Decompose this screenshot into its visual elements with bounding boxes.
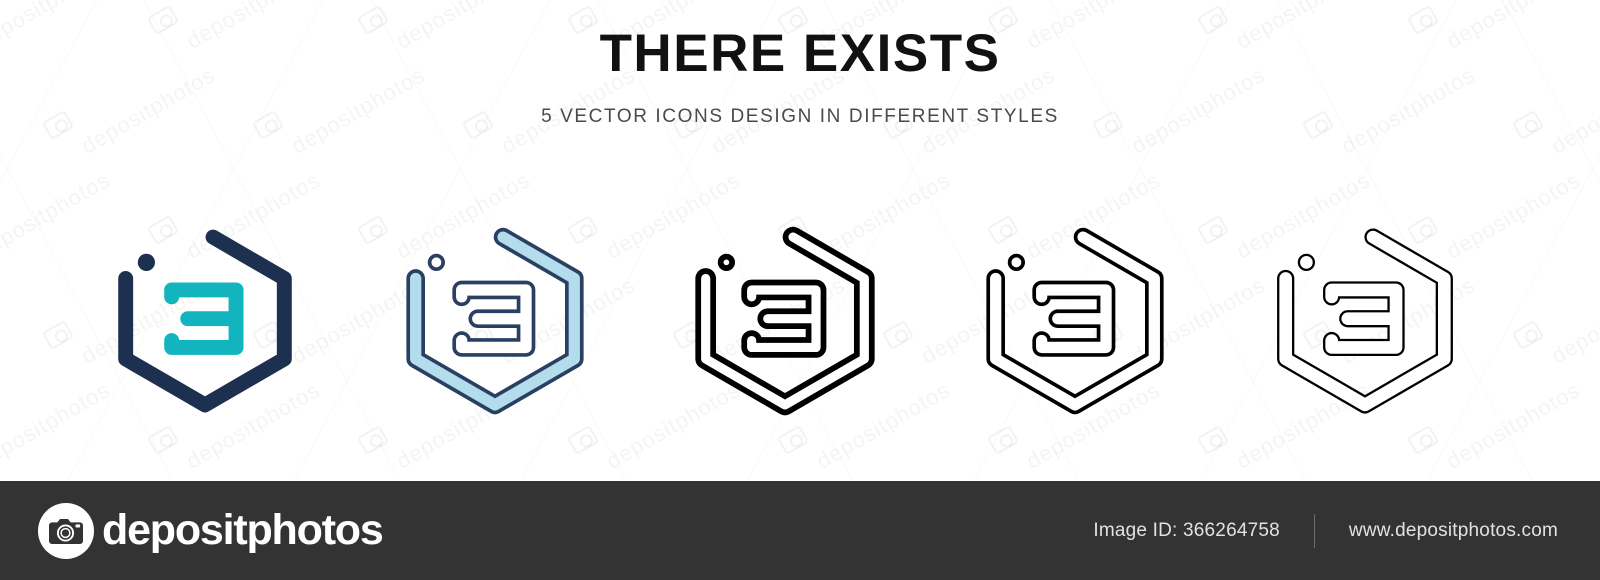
icon-cell-2[interactable] [350,186,640,456]
corner-dot [138,254,155,271]
page-subtitle: 5 VECTOR ICONS DESIGN IN DIFFERENT STYLE… [0,106,1600,128]
corner-dot-outline [721,257,732,268]
icon-cell-1[interactable] [60,186,350,456]
corner-dot-outline [430,256,444,270]
website-link[interactable]: www.depositphotos.com [1349,520,1558,542]
there-exists-glyph [172,290,236,347]
icon-cell-4[interactable] [930,186,1220,456]
footer-meta: Image ID: 366264758 www.depositphotos.co… [1093,514,1558,548]
footer-divider [1314,514,1315,548]
image-id-label: Image ID: 366264758 [1093,520,1280,542]
corner-dot-outline [1299,255,1314,270]
icon-cell-5[interactable] [1220,186,1510,456]
brand-logo[interactable]: depositphotos [38,503,383,559]
footer-bar: depositphotos Image ID: 366264758 www.de… [0,481,1600,580]
icon-row [0,186,1600,456]
icon-cell-3[interactable] [640,186,930,456]
there-exists-icon-regular-line-svg [975,221,1175,421]
brand-wordmark: depositphotos [102,506,383,555]
there-exists-icon-two-tone-svg [395,221,595,421]
there-exists-icon-filled-svg [105,221,305,421]
corner-dot-outline [1010,256,1024,270]
camera-icon [38,503,94,559]
there-exists-icon-bold-line-svg [685,221,885,421]
page-title: THERE EXISTS [0,26,1600,82]
header: THERE EXISTS 5 VECTOR ICONS DESIGN IN DI… [0,0,1600,128]
there-exists-icon-thin-line-svg [1265,221,1465,421]
icon-sheet-canvas: depositphotosdepositphotosdepositphotosd… [0,0,1600,580]
